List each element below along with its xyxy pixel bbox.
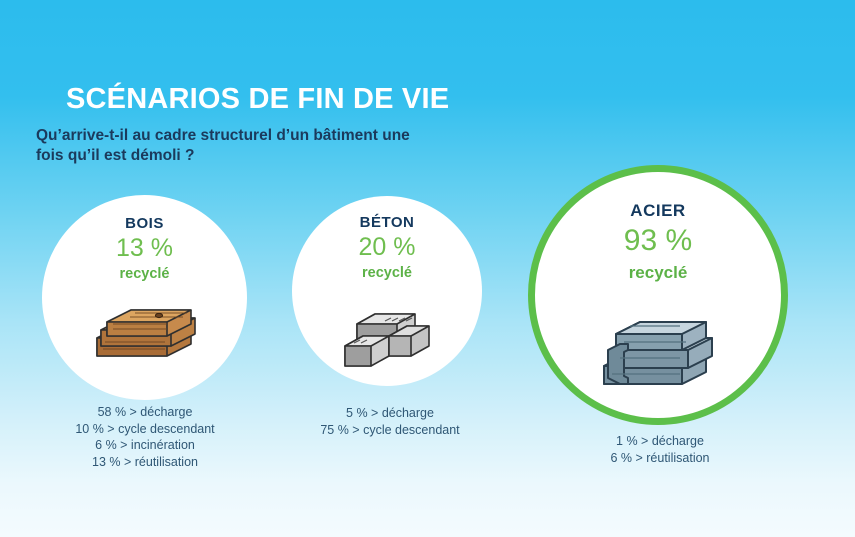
stat-item: 58 % > décharge xyxy=(55,404,235,421)
infographic-canvas: SCÉNARIOS DE FIN DE VIE Qu’arrive-t-il a… xyxy=(0,0,855,537)
stats-list-beton: 5 % > décharge 75 % > cycle descendant xyxy=(300,405,480,438)
stat-item: 5 % > décharge xyxy=(300,405,480,422)
material-percent-bois: 13 % xyxy=(42,234,247,263)
material-card-beton: BÉTON 20 % recyclé xyxy=(292,196,482,386)
material-recycled-label-beton: recyclé xyxy=(292,265,482,281)
material-label-bois: BOIS xyxy=(42,215,247,232)
concrete-blocks-icon xyxy=(292,298,482,372)
subtitle-line-1: Qu’arrive-t-il au cadre structurel d’un … xyxy=(36,126,506,146)
material-label-acier: ACIER xyxy=(535,201,781,221)
stat-item: 6 % > réutilisation xyxy=(570,450,750,467)
page-subtitle: Qu’arrive-t-il au cadre structurel d’un … xyxy=(36,126,506,166)
material-card-bois: BOIS 13 % recyclé xyxy=(42,195,247,400)
wood-planks-icon xyxy=(42,300,247,370)
stats-list-bois: 58 % > décharge 10 % > cycle descendant … xyxy=(55,404,235,470)
stats-list-acier: 1 % > décharge 6 % > réutilisation xyxy=(570,433,750,466)
material-percent-acier: 93 % xyxy=(535,224,781,258)
material-recycled-label-acier: recyclé xyxy=(535,263,781,283)
material-recycled-label-bois: recyclé xyxy=(42,266,247,282)
material-label-beton: BÉTON xyxy=(292,214,482,231)
material-card-acier: ACIER 93 % recyclé xyxy=(528,165,788,425)
stat-item: 10 % > cycle descendant xyxy=(55,421,235,438)
material-percent-beton: 20 % xyxy=(292,233,482,262)
subtitle-line-2: fois qu’il est démoli ? xyxy=(36,146,506,166)
page-title: SCÉNARIOS DE FIN DE VIE xyxy=(66,83,449,116)
stat-item: 75 % > cycle descendant xyxy=(300,422,480,439)
stat-item: 1 % > décharge xyxy=(570,433,750,450)
steel-beams-icon xyxy=(535,300,781,396)
stat-item: 6 % > incinération xyxy=(55,437,235,454)
stat-item: 13 % > réutilisation xyxy=(55,454,235,471)
